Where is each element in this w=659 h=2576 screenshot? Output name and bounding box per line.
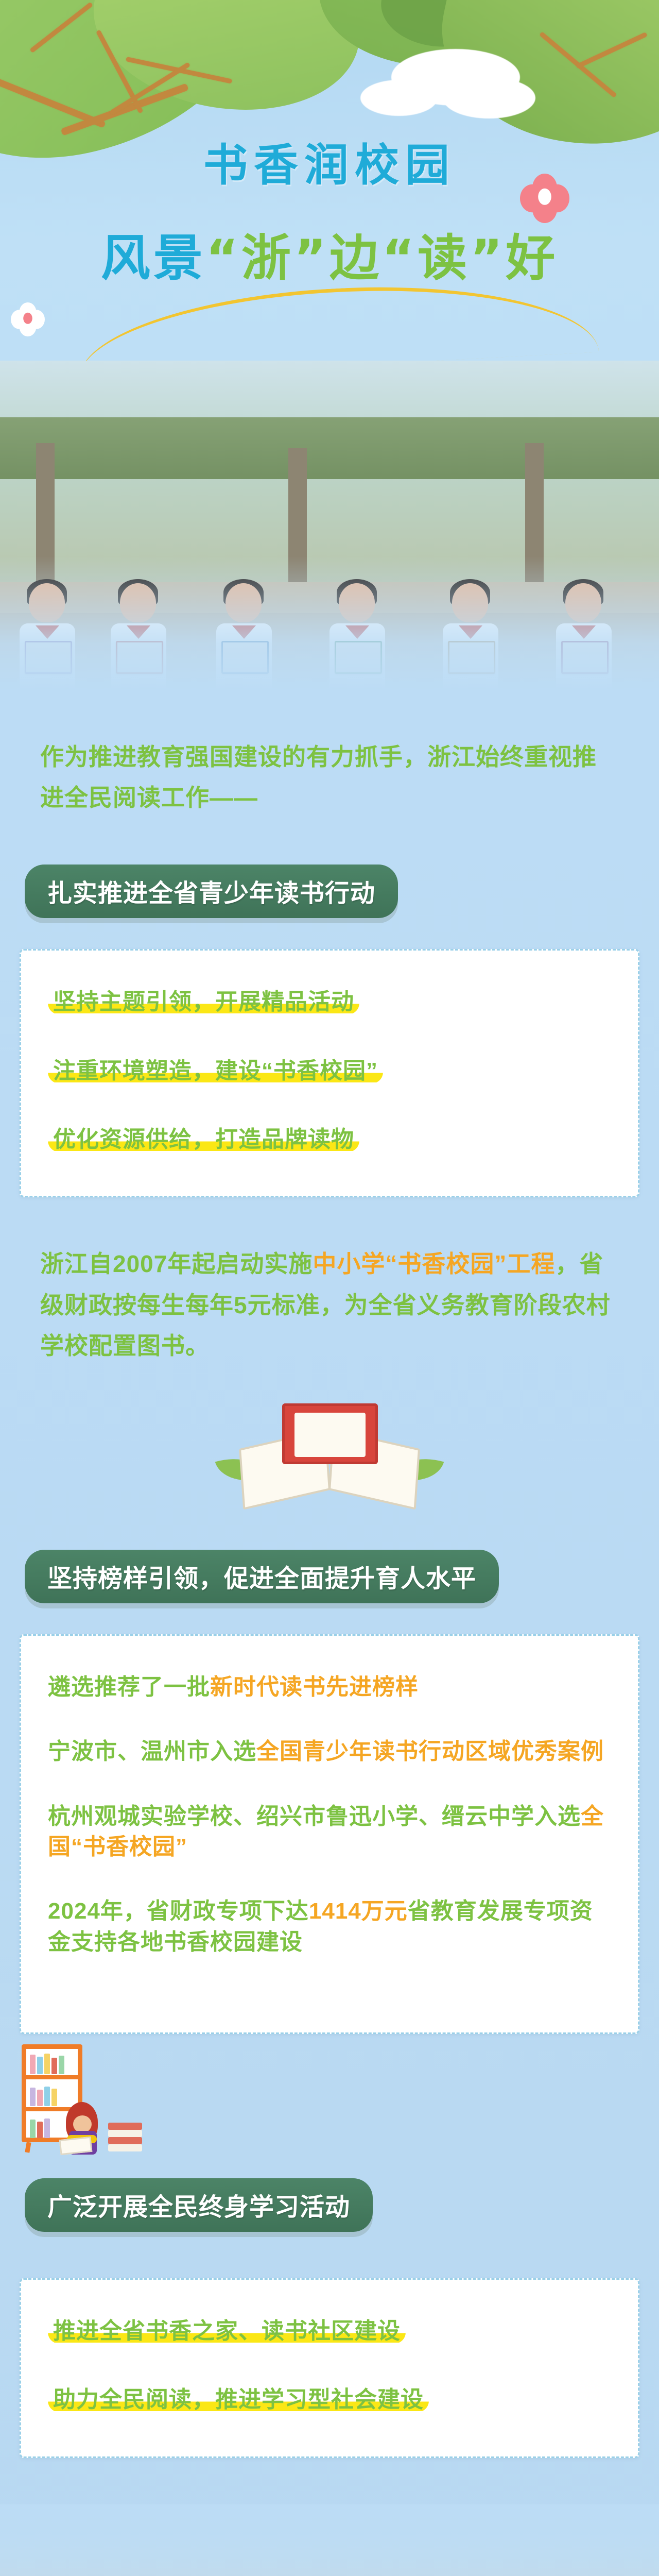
section-1-para-seg-1: 浙江自2007年起启动实施 — [40, 1250, 313, 1277]
section-2-banner: 坚持榜样引领，促进全面提升育人水平 — [25, 1550, 499, 1603]
section-2-line-4-seg-1: 2024年，省财政专项下达 — [48, 1899, 309, 1924]
intro-paragraph: 作为推进教育强国建设的有力抓手，浙江始终重视推进全民阅读工作—— — [40, 737, 619, 818]
section-1-banner: 扎实推进全省青少年读书行动 — [25, 865, 398, 918]
section-2-line-3-seg-1: 杭州观城实验学校、绍兴市鲁迅小学、缙云中学入选 — [48, 1804, 581, 1829]
hero-photo-students-reading — [0, 361, 659, 690]
bottom-photo-children-reading — [0, 2504, 659, 2576]
shelf-book-3 — [44, 2054, 50, 2074]
section-2-line-2-seg-1: 宁波市、温州市入选 — [48, 1739, 256, 1764]
section-1-line-3: 优化资源供给，打造品牌读物 — [48, 1124, 611, 1155]
section-2-line-1: 遴选推荐了一批新时代读书先进榜样 — [48, 1672, 611, 1702]
section-1-line-3-text: 优化资源供给，打造品牌读物 — [48, 1127, 359, 1152]
section-1-para-seg-2-highlight: 中小学“书香校园”工程 — [313, 1250, 555, 1277]
bookshelf-girl-illustration — [22, 2044, 155, 2158]
section-1-line-2-text: 注重环境塑造，建设“书香校园” — [48, 1058, 383, 1083]
section-2-line-4-seg-2-highlight: 1414万元 — [309, 1899, 408, 1924]
bookshelf-divider-1 — [22, 2075, 82, 2079]
poster-title-line1: 书香润校园 — [0, 129, 659, 193]
section-3-line-1: 推进全省书香之家、读书社区建设 — [48, 2316, 611, 2346]
shelf-book-10 — [30, 2120, 36, 2138]
poster-title-line2: 风景“浙”边“读”好 — [0, 218, 659, 290]
section-2-line-1-seg-1: 遴选推荐了一批 — [48, 1674, 210, 1700]
section-2-line-1-seg-2-highlight: 新时代读书先进榜样 — [210, 1674, 419, 1700]
section-2-line-4: 2024年，省财政专项下达1414万元省教育发展专项资金支持各地书香校园建设 — [48, 1896, 611, 1957]
shelf-book-8 — [44, 2087, 50, 2106]
title2-seg-1: 风景 — [101, 229, 206, 287]
section-2-line-2: 宁波市、温州市入选全国青少年读书行动区域优秀案例 — [48, 1736, 611, 1767]
bottom-photo-top-fade — [0, 2504, 659, 2576]
section-1-paragraph: 浙江自2007年起启动实施中小学“书香校园”工程，省级财政按每生每年5元标准，为… — [40, 1244, 619, 1366]
section-3-line-2-text: 助力全民阅读，推进学习型社会建设 — [48, 2387, 429, 2412]
section-2-line-2-seg-2-highlight: 全国青少年读书行动区域优秀案例 — [256, 1739, 604, 1764]
flower-white-left — [11, 302, 45, 336]
book-stack-1 — [108, 2123, 142, 2130]
section-1-card: 坚持主题引领，开展精品活动 注重环境塑造，建设“书香校园” 优化资源供给，打造品… — [20, 949, 639, 1197]
cloud-2 — [443, 77, 535, 118]
shelf-book-11 — [37, 2122, 43, 2138]
book-cover-page — [294, 1413, 366, 1457]
section-2-banner-label: 坚持榜样引领，促进全面提升育人水平 — [47, 1565, 476, 1592]
section-1-line-2: 注重环境塑造，建设“书香校园” — [48, 1056, 611, 1086]
book-stack-4 — [108, 2144, 142, 2151]
section-3-line-2: 助力全民阅读，推进学习型社会建设 — [48, 2384, 611, 2415]
hero-title-block: 书香润校园 风景“浙”边“读”好 — [0, 129, 659, 290]
shelf-book-6 — [30, 2088, 36, 2106]
girl-face — [73, 2115, 92, 2133]
title2-seg-3: 边 — [329, 229, 382, 287]
section-3-banner: 广泛开展全民终身学习活动 — [25, 2178, 373, 2232]
title2-seg-5: 好 — [506, 229, 558, 287]
shelf-book-9 — [51, 2089, 57, 2106]
shelf-book-2 — [37, 2057, 43, 2074]
section-2-card: 遴选推荐了一批新时代读书先进榜样 宁波市、温州市入选全国青少年读书行动区域优秀案… — [20, 1634, 639, 2034]
bookshelf-leg-left — [25, 2142, 31, 2153]
shelf-book-5 — [59, 2056, 64, 2074]
shelf-book-12 — [44, 2119, 50, 2138]
photo-hedge — [0, 417, 659, 479]
shelf-book-4 — [51, 2058, 57, 2074]
open-book-illustration — [221, 1395, 438, 1514]
shelf-book-1 — [30, 2055, 36, 2074]
hero-header: 书香润校园 风景“浙”边“读”好 — [0, 0, 659, 690]
section-3: 广泛开展全民终身学习活动 推进全省书香之家、读书社区建设 助力全民阅读，推进学习… — [0, 2178, 659, 2458]
section-1-banner-label: 扎实推进全省青少年读书行动 — [47, 880, 375, 907]
cloud-3 — [360, 80, 438, 116]
book-stack-2 — [108, 2130, 142, 2137]
section-1-line-1-text: 坚持主题引领，开展精品活动 — [48, 989, 359, 1014]
poster-root: 书香润校园 风景“浙”边“读”好 — [0, 0, 659, 2576]
book-stack-3 — [108, 2137, 142, 2144]
section-3-line-1-text: 推进全省书香之家、读书社区建设 — [48, 2318, 406, 2344]
section-3-card: 推进全省书香之家、读书社区建设 助力全民阅读，推进学习型社会建设 — [20, 2278, 639, 2458]
shelf-book-7 — [37, 2090, 43, 2106]
section-1: 扎实推进全省青少年读书行动 坚持主题引领，开展精品活动 注重环境塑造，建设“书香… — [0, 865, 659, 1514]
photo-bottom-fade — [0, 556, 659, 690]
section-1-line-1: 坚持主题引领，开展精品活动 — [48, 987, 611, 1017]
section-2: 坚持榜样引领，促进全面提升育人水平 遴选推荐了一批新时代读书先进榜样 宁波市、温… — [0, 1550, 659, 2158]
title2-seg-4: “读” — [382, 229, 506, 287]
title2-seg-2: “浙” — [206, 229, 329, 287]
section-3-banner-label: 广泛开展全民终身学习活动 — [47, 2194, 350, 2221]
section-2-line-3: 杭州观城实验学校、绍兴市鲁迅小学、缙云中学入选全国“书香校园” — [48, 1801, 611, 1862]
poster-content: 作为推进教育强国建设的有力抓手，浙江始终重视推进全民阅读工作—— 扎实推进全省青… — [0, 690, 659, 2576]
